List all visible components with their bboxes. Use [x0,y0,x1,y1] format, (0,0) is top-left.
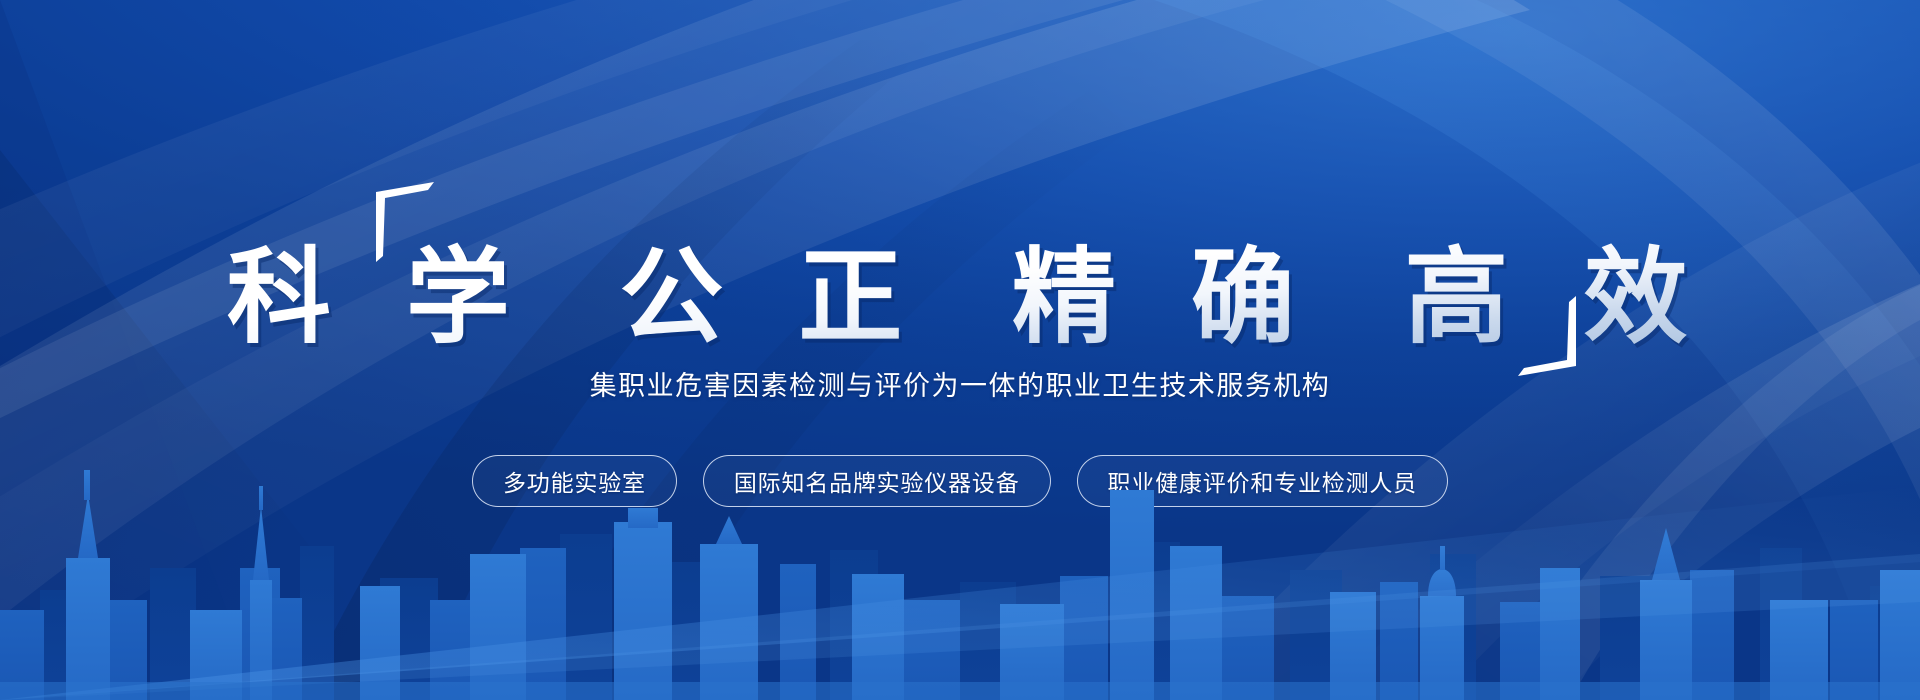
feature-pill-label: 多功能实验室 [503,464,646,498]
subtitle-container: 集职业危害因素检测与评价为一体的职业卫生技术服务机构 [0,342,1920,431]
feature-pill-label: 职业健康评价和专业检测人员 [1108,464,1417,498]
feature-pill-label: 国际知名品牌实验仪器设备 [734,464,1020,498]
feature-pill-lab[interactable]: 多功能实验室 [472,455,677,507]
feature-pill-group: 多功能实验室 国际知名品牌实验仪器设备 职业健康评价和专业检测人员 [0,455,1920,507]
banner-subtitle: 集职业危害因素检测与评价为一体的职业卫生技术服务机构 [590,369,1331,404]
feature-pill-equipment[interactable]: 国际知名品牌实验仪器设备 [703,455,1051,507]
feature-pill-staff[interactable]: 职业健康评价和专业检测人员 [1077,455,1448,507]
hero-banner: 科 学 公 正 精 确 高 效 集职业危害因素检测与评价为一体的职业卫生技术服务… [0,0,1920,700]
banner-headline: 科 学 公 正 精 确 高 效 [227,240,1693,356]
